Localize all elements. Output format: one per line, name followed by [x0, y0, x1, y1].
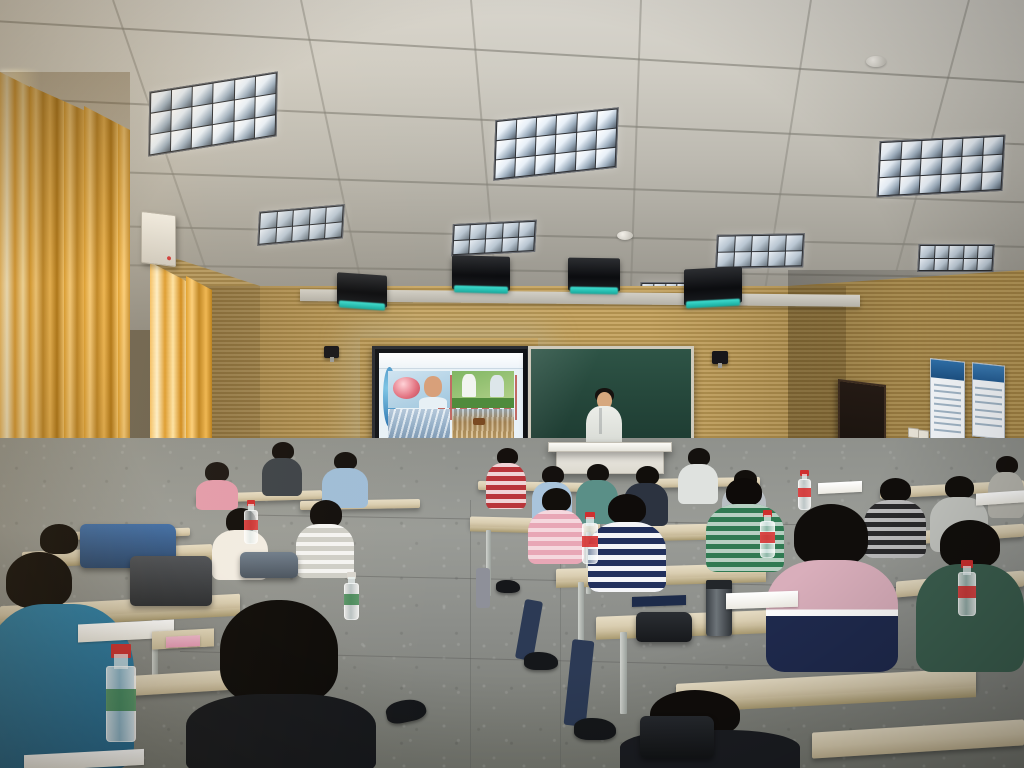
- slide-header-bar: [379, 353, 523, 369]
- audience-member: [322, 452, 368, 506]
- shoe: [496, 580, 520, 593]
- seated-leg: [476, 568, 490, 608]
- water-bottle: [106, 644, 136, 742]
- slide-photo-greenhouse-rows: [388, 409, 450, 438]
- handbag: [640, 716, 714, 758]
- pink-note: [166, 635, 200, 648]
- audience-member: [196, 462, 238, 508]
- slide-photo-harvest-field: [452, 409, 514, 438]
- shoe: [574, 718, 616, 740]
- audience-member: [262, 442, 302, 494]
- ceiling-ac-unit: [684, 266, 742, 305]
- audience-member: [186, 600, 376, 768]
- shoulder-bag: [130, 556, 212, 606]
- audience-member: [588, 494, 666, 590]
- smoke-detector-icon: [866, 56, 886, 67]
- slide-photo-field-workers: [452, 371, 514, 408]
- ceiling-ac-unit: [568, 258, 620, 292]
- handbag: [636, 612, 692, 642]
- water-bottle: [760, 510, 775, 558]
- wall-speaker: [712, 351, 728, 364]
- notice-poster: [930, 358, 965, 444]
- shoe: [524, 652, 558, 670]
- water-bottle: [244, 500, 258, 544]
- water-bottle: [582, 512, 598, 564]
- audience-member: [486, 448, 526, 508]
- audience-member: [988, 456, 1024, 516]
- handout-papers: [726, 591, 798, 610]
- water-bottle: [344, 572, 359, 620]
- audience-member: [528, 488, 584, 562]
- smoke-detector-icon: [617, 231, 633, 240]
- ceiling-ac-unit: [337, 272, 387, 307]
- ceiling-light-troffer: [877, 135, 1006, 198]
- ceiling-light-troffer: [715, 233, 805, 269]
- water-bottle: [958, 560, 976, 616]
- floor-seam: [470, 500, 471, 768]
- audience-member: [766, 504, 898, 668]
- wall-speaker: [141, 211, 176, 267]
- wall-speaker: [324, 346, 339, 358]
- notice-poster: [972, 362, 1005, 439]
- water-bottle: [798, 470, 811, 510]
- ceiling-light-troffer: [917, 244, 994, 272]
- presenter: [586, 388, 622, 450]
- slide-photo-petri-dish: [388, 371, 450, 408]
- podium-top: [548, 442, 672, 452]
- ceiling-ac-unit: [452, 255, 510, 291]
- ceiling-light-troffer: [451, 220, 537, 257]
- handout-papers: [818, 481, 862, 494]
- lecture-hall-photo: [0, 0, 1024, 768]
- folder: [632, 595, 686, 607]
- presentation-slide: [379, 353, 523, 451]
- shoulder-bag: [240, 552, 298, 578]
- audience-member: [296, 500, 354, 576]
